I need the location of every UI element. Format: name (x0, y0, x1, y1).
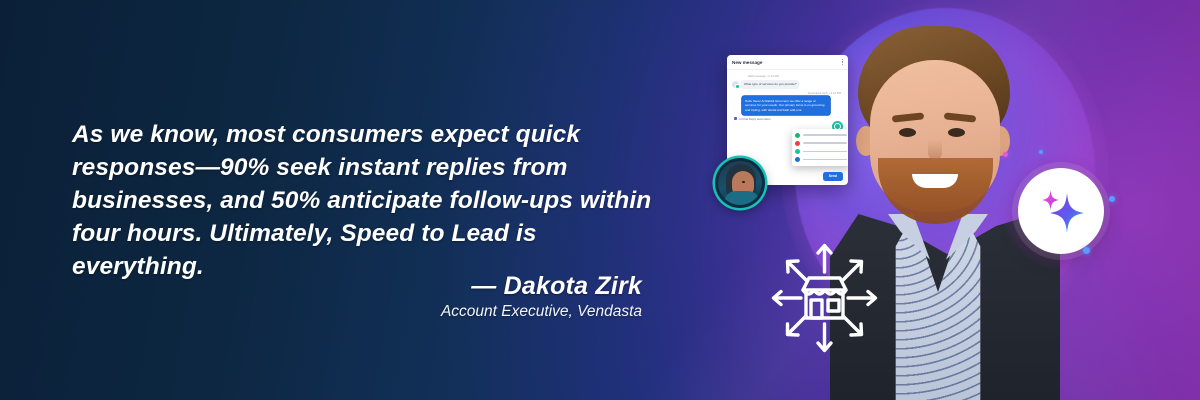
chat-card-body: Web message • 2:14 PM What type of servi… (727, 70, 848, 123)
storefront-glyph (803, 278, 846, 318)
outgoing-meta: Automated reply • 2:14 PM (732, 91, 841, 95)
automation-tag-label: AI Chat Reply automation (739, 117, 771, 121)
incoming-message-row: What type of services do you provide? (732, 80, 843, 89)
chat-context-menu[interactable] (792, 129, 848, 166)
menu-item-resolve[interactable] (792, 131, 848, 139)
accent-dot (1109, 196, 1115, 202)
contact-avatar (732, 81, 739, 88)
chat-card-header: New message (727, 55, 848, 70)
accent-dot (1083, 247, 1090, 254)
resolve-icon (795, 133, 800, 138)
menu-item-assign[interactable] (792, 139, 848, 147)
incoming-meta: Web message • 2:14 PM (748, 74, 843, 78)
storefront-icon (757, 230, 892, 365)
accent-dot (1003, 152, 1008, 157)
menu-item-settings[interactable] (792, 156, 848, 164)
quote-block: As we know, most consumers expect quick … (72, 118, 672, 283)
accent-dot (1039, 150, 1043, 154)
attribution-role: Account Executive, Vendasta (72, 303, 642, 321)
incoming-bubble: What type of services do you provide? (741, 80, 799, 89)
support-agent-avatar (715, 158, 765, 208)
outgoing-bubble: Hello there! At Rabbit Groomers we offer… (742, 96, 830, 114)
kebab-menu-icon[interactable] (842, 59, 843, 65)
assign-icon (795, 141, 800, 146)
ai-sparkle-icon (1018, 168, 1104, 254)
send-button[interactable]: Send (823, 172, 843, 181)
settings-icon (795, 157, 800, 162)
crm-icon (795, 149, 800, 154)
attribution-name: — Dakota Zirk (471, 272, 642, 300)
automation-icon (734, 117, 737, 120)
chat-card-title: New message (732, 60, 762, 65)
quote-text: As we know, most consumers expect quick … (72, 118, 672, 283)
menu-item-crm[interactable] (792, 147, 848, 155)
attribution: — Dakota Zirk Account Executive, Vendast… (72, 272, 642, 321)
testimonial-banner: As we know, most consumers expect quick … (0, 0, 1200, 400)
radiating-arrows (774, 246, 876, 351)
automation-tag: AI Chat Reply automation (734, 117, 843, 121)
